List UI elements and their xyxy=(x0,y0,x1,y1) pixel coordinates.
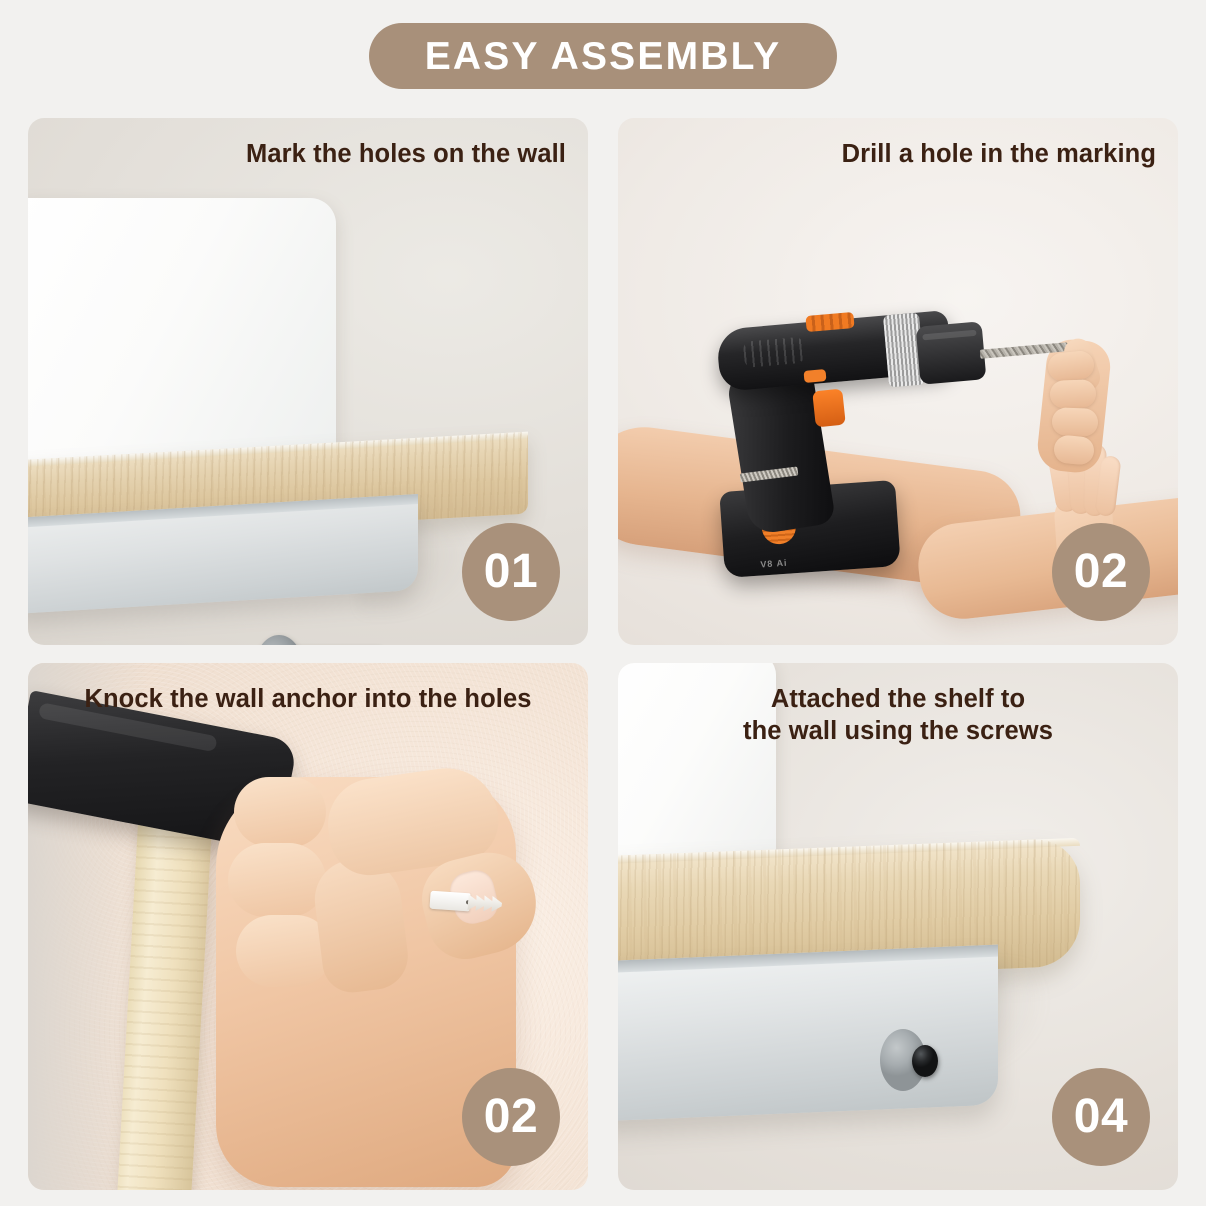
drill-trigger xyxy=(812,389,846,428)
knuckle-1 xyxy=(234,777,326,847)
step-badge-2: 02 xyxy=(1052,523,1150,621)
finger-middle xyxy=(1050,379,1097,409)
panel-1-caption: Mark the holes on the wall xyxy=(28,138,588,170)
metal-bracket xyxy=(618,945,998,1122)
panel-4-caption-line-1: Attached the shelf to xyxy=(771,685,1025,713)
step-badge-1: 01 xyxy=(462,523,560,621)
drill-brand-label: V8 Ai xyxy=(760,558,788,570)
drill-vents xyxy=(743,337,805,368)
page-title-badge: EASY ASSEMBLY xyxy=(369,23,837,89)
step-number-4: 04 xyxy=(1074,1093,1128,1141)
finger-pinky xyxy=(1053,434,1095,465)
panel-3-caption: Knock the wall anchor into the holes xyxy=(28,683,588,715)
drill-chuck xyxy=(916,321,987,385)
anchor-body xyxy=(429,891,470,912)
step-badge-3: 02 xyxy=(462,1068,560,1166)
step-panel-2: V8 Ai Drill a hole in the marking xyxy=(618,118,1178,645)
shelf-back-panel xyxy=(28,198,336,462)
gripping-hand-fingers xyxy=(1048,350,1132,500)
step-panel-3: Knock the wall anchor into the holes 02 xyxy=(28,663,588,1190)
step-number-2: 02 xyxy=(1074,548,1128,596)
screw-head xyxy=(912,1045,938,1077)
knuckle-2 xyxy=(228,843,326,917)
panel-4-caption-line-2: the wall using the screws xyxy=(743,717,1053,745)
step-number-3: 02 xyxy=(484,1093,538,1141)
panel-2-caption: Drill a hole in the marking xyxy=(618,138,1178,170)
step-number-1: 01 xyxy=(484,548,538,596)
finger-ring xyxy=(1052,407,1099,437)
step-panel-4: Attached the shelf to the wall using the… xyxy=(618,663,1178,1190)
panel-4-caption: Attached the shelf to the wall using the… xyxy=(618,683,1178,747)
page-title: EASY ASSEMBLY xyxy=(425,37,782,76)
step-panel-1: Mark the holes on the wall 01 xyxy=(28,118,588,645)
drill-direction-switch xyxy=(804,369,827,383)
step-badge-4: 04 xyxy=(1052,1068,1150,1166)
